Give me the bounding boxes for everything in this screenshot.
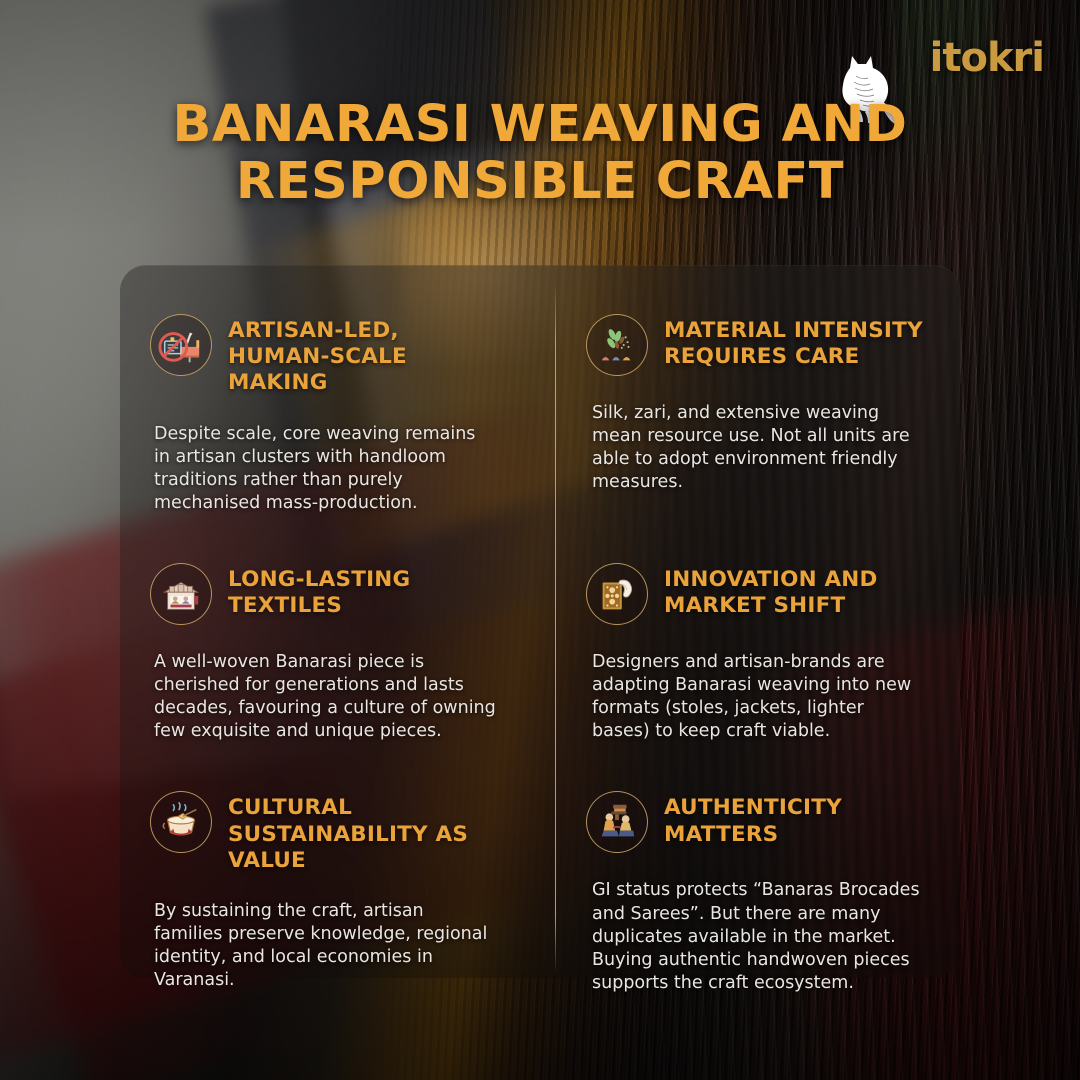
brand-logo[interactable]: itokri	[930, 38, 1044, 78]
card-cultural-sustainability: CULTURAL SUSTAINABILITY AS VALUE By sust…	[120, 743, 540, 994]
card-innovation-market-shift: INNOVATION AND MARKET SHIFT Designers an…	[540, 515, 960, 743]
card-artisan-led: ARTISAN-LED, HUMAN-SCALE MAKING Despite …	[120, 266, 540, 515]
card-body: Silk, zari, and extensive weaving mean r…	[586, 402, 924, 494]
card-title: LONG-LASTING TEXTILES	[228, 563, 496, 619]
card-material-intensity: MATERIAL INTENSITY REQUIRES CARE Silk, z…	[540, 266, 960, 515]
card-body: GI status protects “Banaras Brocades and…	[586, 879, 924, 994]
two-seated-artisans-icon	[586, 791, 648, 853]
steaming-dye-pot-icon	[150, 791, 212, 853]
hand-holding-brocade-swatch-icon	[586, 563, 648, 625]
content-panel: ARTISAN-LED, HUMAN-SCALE MAKING Despite …	[120, 265, 960, 978]
card-title: CULTURAL SUSTAINABILITY AS VALUE	[228, 791, 496, 874]
card-body: A well-woven Banarasi piece is cherished…	[150, 651, 496, 743]
page-title: BANARASI WEAVING AND RESPONSIBLE CRAFT	[0, 96, 1080, 210]
card-title: INNOVATION AND MARKET SHIFT	[664, 563, 924, 619]
no-mass-production-machine-icon	[150, 314, 212, 376]
title-line-1: BANARASI WEAVING AND	[110, 96, 970, 153]
card-title: ARTISAN-LED, HUMAN-SCALE MAKING	[228, 314, 496, 397]
title-line-2: RESPONSIBLE CRAFT	[110, 153, 970, 210]
infographic-canvas: itokri BANARASI WEAVING AND RESPONSIBLE …	[0, 0, 1080, 1080]
card-title: MATERIAL INTENSITY REQUIRES CARE	[664, 314, 924, 370]
card-title: AUTHENTICITY MATTERS	[664, 791, 924, 847]
card-body: Despite scale, core weaving remains in a…	[150, 423, 496, 515]
card-body: Designers and artisan-brands are adaptin…	[586, 651, 924, 743]
card-long-lasting-textiles: LONG-LASTING TEXTILES A well-woven Banar…	[120, 515, 540, 743]
card-authenticity-matters: AUTHENTICITY MATTERS GI status protects …	[540, 743, 960, 994]
leaves-and-natural-dyes-icon	[586, 314, 648, 376]
artisan-shopfront-icon	[150, 563, 212, 625]
card-body: By sustaining the craft, artisan familie…	[150, 900, 496, 992]
